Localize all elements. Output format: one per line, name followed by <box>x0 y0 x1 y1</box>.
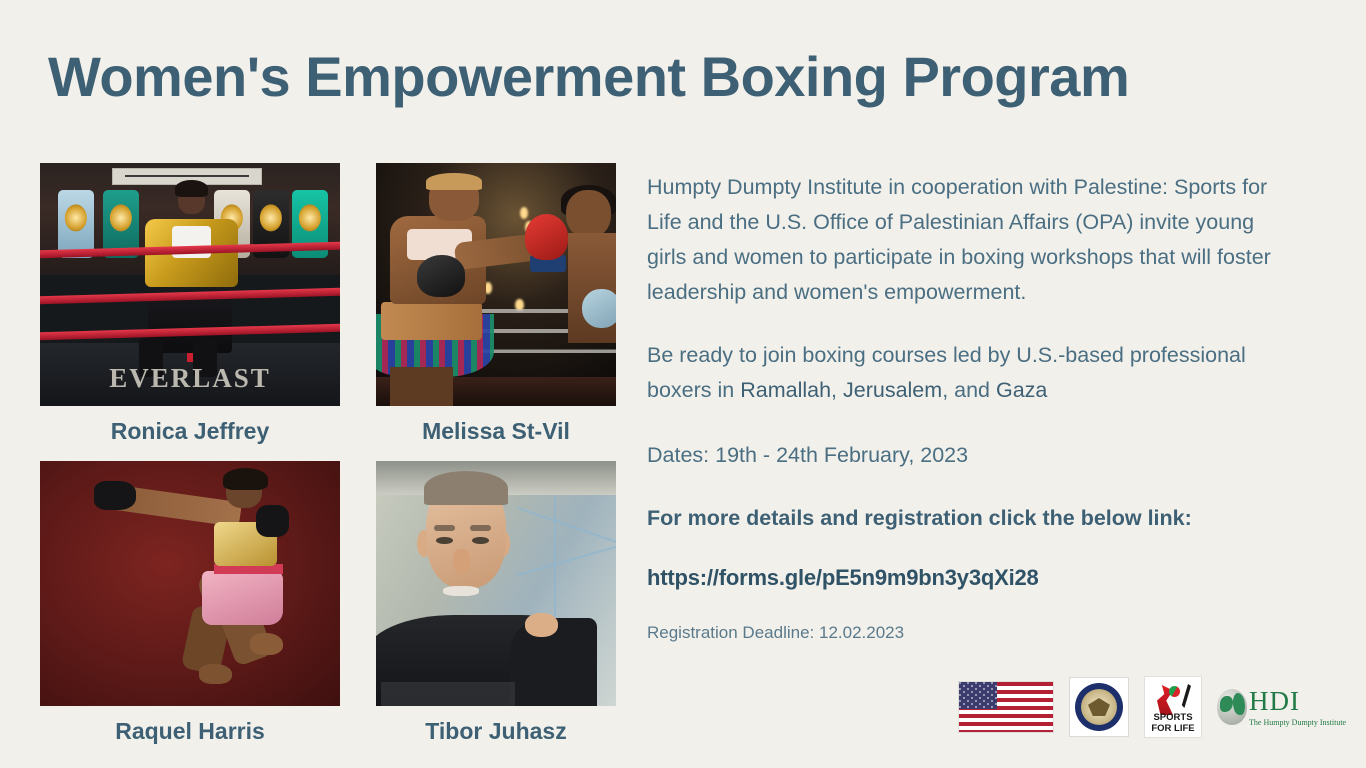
bare-foot <box>199 664 232 684</box>
humpty-dumpty-institute-logo: HDI The Humpty Dumpty Institute <box>1217 682 1335 732</box>
opponent-head <box>566 190 612 239</box>
sports-for-life-line1: SPORTS <box>1145 712 1201 723</box>
city-separator: , and <box>942 378 996 402</box>
us-flag-icon <box>958 681 1054 733</box>
athlete-name-0: Ronica Jeffrey <box>40 418 340 445</box>
registration-cta: For more details and registration click … <box>647 503 1297 533</box>
everlast-floor-text: EVERLAST <box>40 363 340 394</box>
sports-for-life-logo: SPORTS FOR LIFE <box>1144 676 1202 738</box>
athlete-name-2: Raquel Harris <box>40 718 340 745</box>
athlete-card-2: Raquel Harris <box>40 461 340 706</box>
program-dates: Dates: 19th - 24th February, 2023 <box>647 438 1297 473</box>
portrait-hair <box>424 471 508 505</box>
black-boxing-glove <box>417 255 465 296</box>
athlete-hair <box>426 173 481 190</box>
shirt-print <box>381 682 515 707</box>
wrapped-fist <box>256 505 289 537</box>
red-boxing-glove <box>525 214 568 260</box>
city-separator: , <box>831 378 843 402</box>
hdi-full-name: The Humpty Dumpty Institute <box>1249 718 1346 727</box>
program-description: Humpty Dumpty Institute in cooperation w… <box>647 170 1297 643</box>
hdi-text-block: HDI The Humpty Dumpty Institute <box>1249 688 1346 727</box>
nose <box>453 549 470 574</box>
athlete-photo-3 <box>376 461 616 706</box>
registration-deadline: Registration Deadline: 12.02.2023 <box>647 623 1297 643</box>
bare-foot <box>250 633 283 655</box>
hand-on-shoulder <box>525 613 559 638</box>
boxing-trunks <box>381 302 482 341</box>
athlete-hair <box>223 468 268 490</box>
sports-for-life-line2: FOR LIFE <box>1145 723 1201 734</box>
flag-canton <box>959 682 997 709</box>
globe-icon <box>1217 689 1247 725</box>
opponent-glove <box>582 289 616 328</box>
eyebrow <box>434 525 456 531</box>
eyebrow <box>470 525 492 531</box>
championship-belt-icon <box>58 190 94 258</box>
ball-icon <box>1169 686 1180 697</box>
intro-paragraph: Humpty Dumpty Institute in cooperation w… <box>647 170 1297 310</box>
courses-paragraph: Be ready to join boxing courses led by U… <box>647 338 1297 408</box>
smile <box>443 586 479 596</box>
flag-stars <box>959 682 997 709</box>
registration-link[interactable]: https://forms.gle/pE5n9m9bn3y3qXi28 <box>647 565 1297 591</box>
athlete-legs <box>390 367 452 406</box>
hdi-abbreviation: HDI <box>1249 688 1346 715</box>
page-title: Women's Empowerment Boxing Program <box>48 44 1129 109</box>
athlete-name-3: Tibor Juhasz <box>376 718 616 745</box>
city-ramallah: Ramallah <box>740 378 831 402</box>
us-department-of-state-seal-icon <box>1069 677 1129 737</box>
athlete-photo-2 <box>40 461 340 706</box>
pink-shorts <box>202 571 283 625</box>
eagle-icon <box>1088 698 1110 716</box>
athlete-name-1: Melissa St-Vil <box>376 418 616 445</box>
city-gaza: Gaza <box>996 378 1047 402</box>
athlete-card-0: EVERLAST Ronica Jeffrey <box>40 163 340 406</box>
athlete-card-1: Melissa St-Vil <box>376 163 616 406</box>
swoosh-icon <box>1181 684 1191 708</box>
city-jerusalem: Jerusalem <box>843 378 942 402</box>
wrapped-fist <box>94 481 136 510</box>
athlete-photo-0: EVERLAST <box>40 163 340 406</box>
seal-ring <box>1075 683 1123 731</box>
athlete-card-3: Tibor Juhasz <box>376 461 616 706</box>
athlete-hair <box>175 180 208 197</box>
athlete-photo-1 <box>376 163 616 406</box>
partner-logos: SPORTS FOR LIFE HDI The Humpty Dumpty In… <box>958 676 1335 738</box>
